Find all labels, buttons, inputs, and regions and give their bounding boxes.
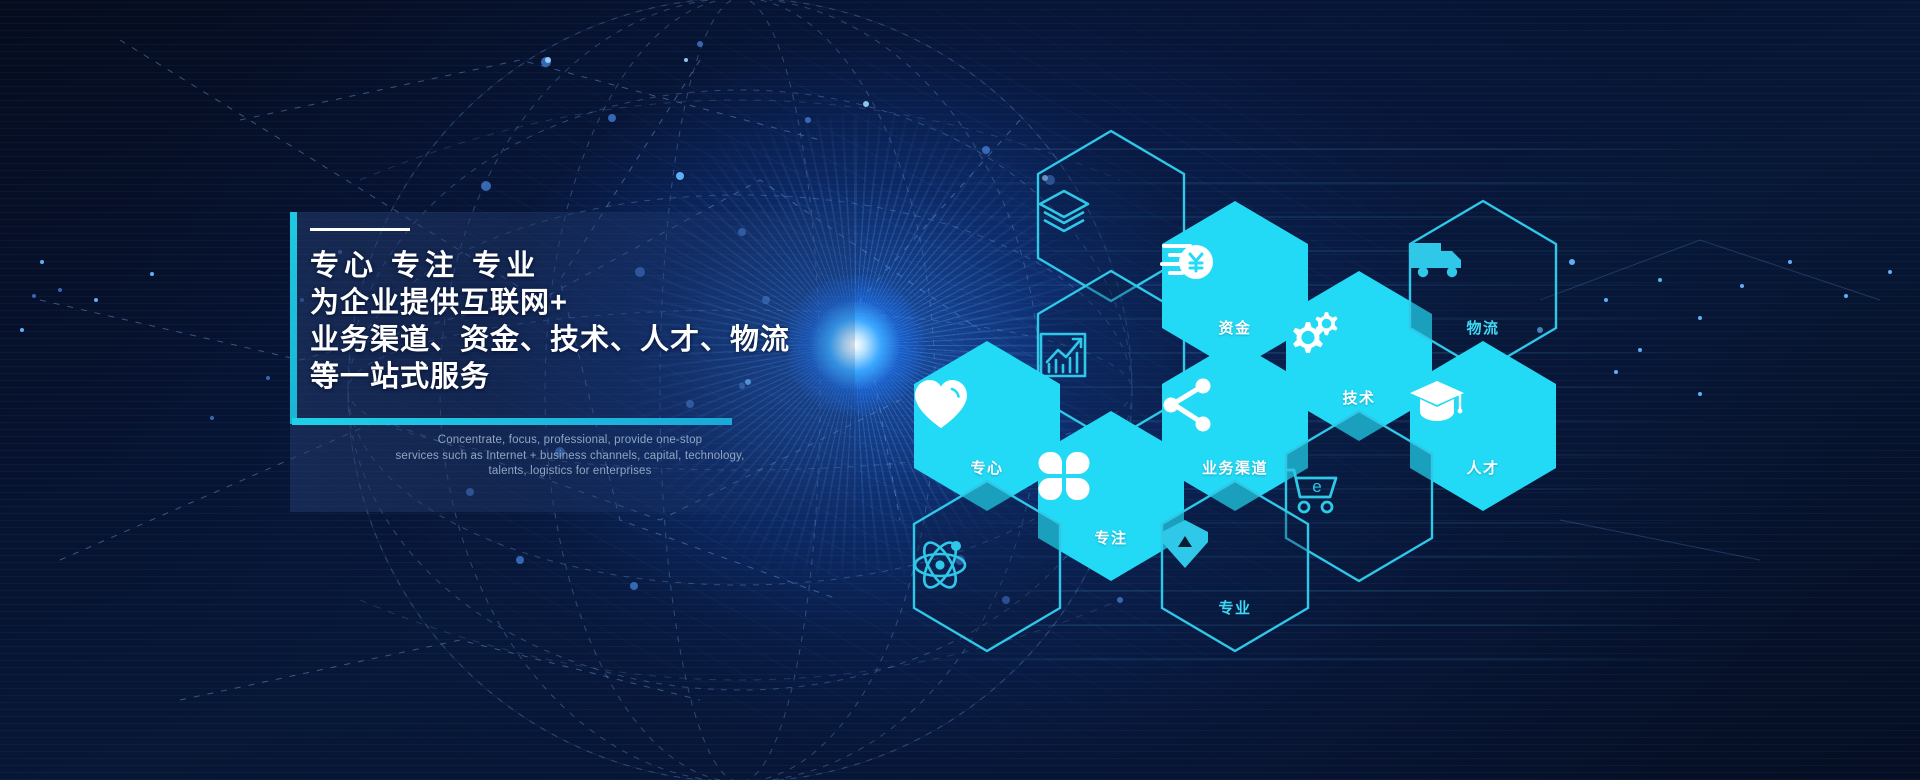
hexagon-label-pro: 专业 [1160, 597, 1310, 618]
svg-text:e: e [1312, 477, 1321, 496]
hexagon-grid: 资金技术物流专心业务渠道人才专注e专业 [0, 0, 1920, 780]
hexagon-pro[interactable]: 专业 [1160, 480, 1310, 652]
atom-icon [912, 536, 1062, 594]
diamond-icon [1160, 518, 1310, 576]
hexagon-atom[interactable] [912, 480, 1062, 652]
truck-icon [1408, 238, 1558, 296]
hexagon-label-logistics: 物流 [1408, 317, 1558, 338]
banner-stage: 专心 专注 专业 为企业提供互联网+ 业务渠道、资金、技术、人才、物流 等一站式… [0, 0, 1920, 780]
